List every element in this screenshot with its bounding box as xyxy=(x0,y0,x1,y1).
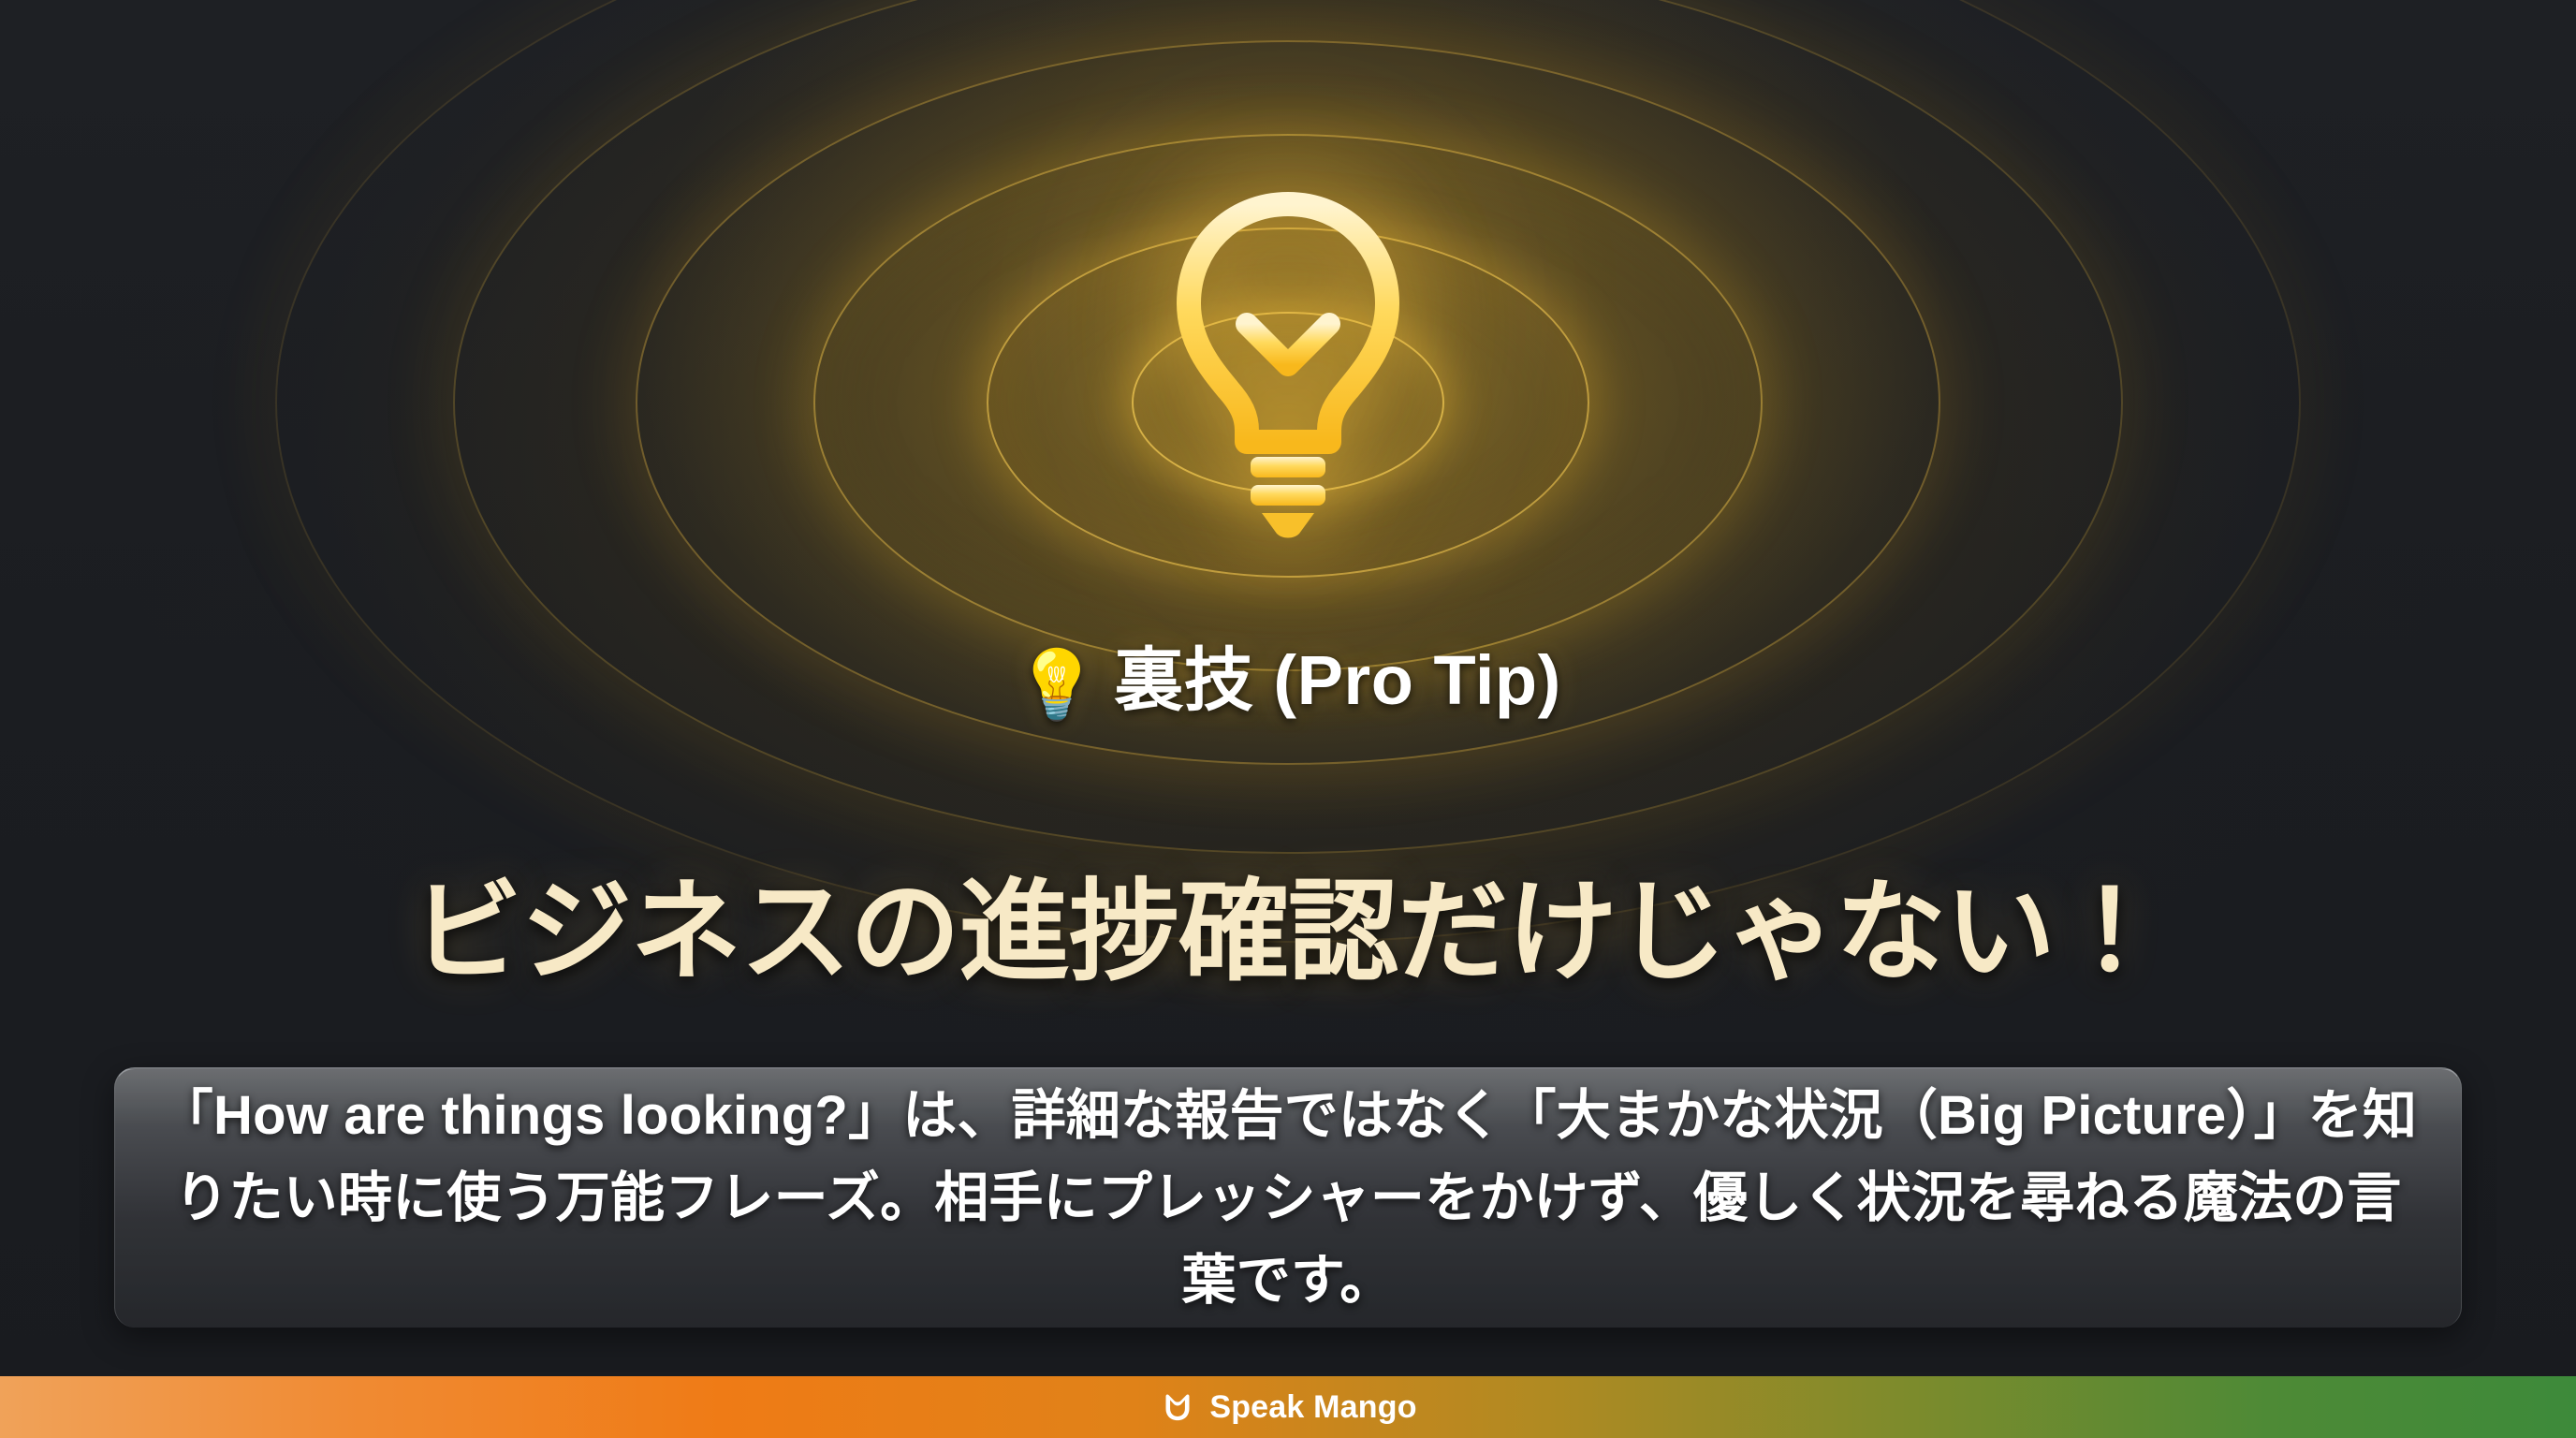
lightbulb-emoji-icon: 💡 xyxy=(1015,652,1099,719)
speak-mango-logo-icon xyxy=(1159,1388,1196,1426)
brand-name: Speak Mango xyxy=(1209,1389,1416,1426)
brand-footer: Speak Mango xyxy=(0,1376,2576,1438)
lightbulb-icon xyxy=(1101,167,1475,541)
explanation-card: 「How are things looking?」は、詳細な報告ではなく「大まか… xyxy=(114,1067,2462,1328)
explanation-text: 「How are things looking?」は、詳細な報告ではなく「大まか… xyxy=(158,1075,2418,1322)
subtitle: 💡裏技 (Pro Tip) xyxy=(0,646,2576,719)
page-title: ビジネスの進捗確認だけじゃない！ xyxy=(0,874,2576,991)
slide-canvas: 💡裏技 (Pro Tip) ビジネスの進捗確認だけじゃない！ 「How are … xyxy=(0,0,2576,1438)
subtitle-text: 裏技 (Pro Tip) xyxy=(1114,641,1560,719)
